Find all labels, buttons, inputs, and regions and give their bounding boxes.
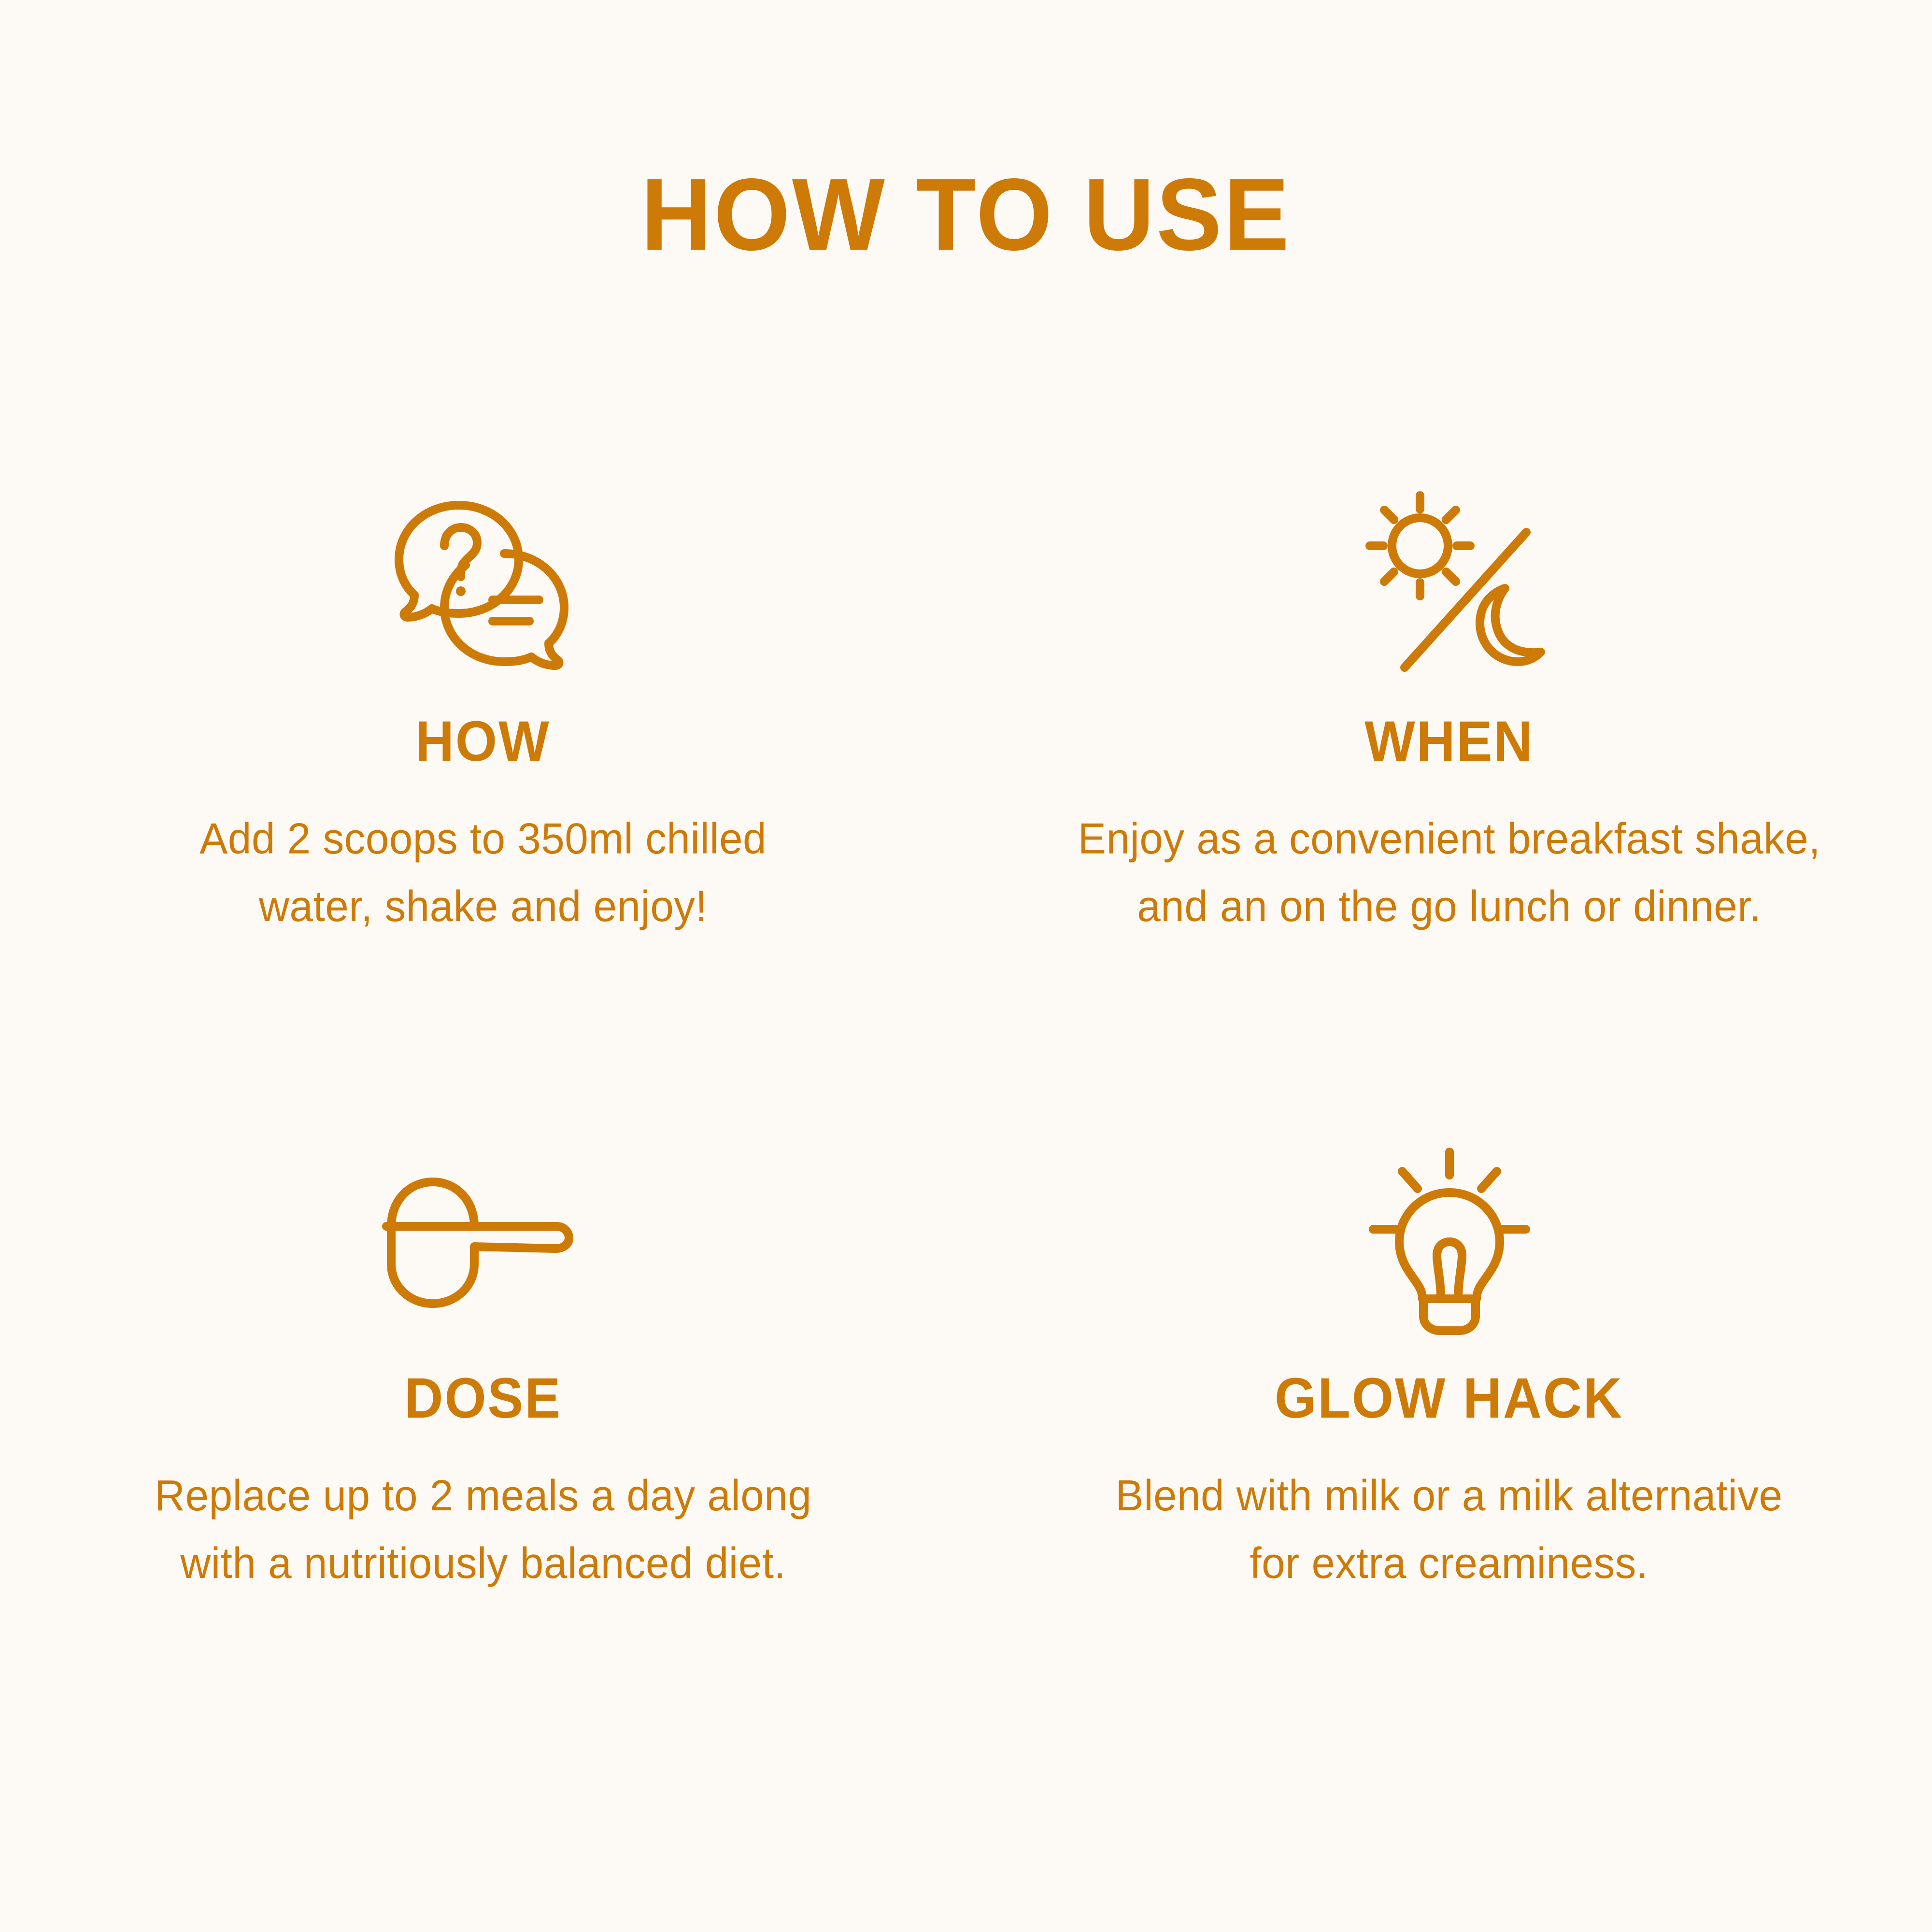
instruction-card-when: WHEN Enjoy as a convenient breakfast sha… — [966, 483, 1932, 1135]
card-heading-dose: DOSE — [404, 1370, 562, 1427]
card-heading-how: HOW — [415, 713, 551, 770]
how-to-use-panel: HOW TO USE HOW Add 2 scoops to — [0, 0, 1932, 1932]
measuring-scoop-icon — [373, 1135, 576, 1343]
page-title: HOW TO USE — [39, 163, 1893, 266]
card-body-when: Enjoy as a convenient breakfast shake, a… — [1078, 806, 1820, 940]
instruction-card-how: HOW Add 2 scoops to 350ml chilled water,… — [0, 483, 966, 1135]
lightbulb-icon — [1360, 1135, 1538, 1343]
card-body-glow-hack: Blend with milk or a milk alternative fo… — [1115, 1463, 1782, 1597]
card-body-dose: Replace up to 2 meals a day along with a… — [155, 1463, 811, 1597]
card-heading-glow-hack: GLOW HACK — [1275, 1370, 1623, 1427]
sun-moon-icon — [1360, 483, 1553, 686]
card-heading-when: WHEN — [1364, 713, 1534, 770]
instruction-card-glow-hack: GLOW HACK Blend with milk or a milk alte… — [966, 1135, 1932, 1787]
instruction-card-dose: DOSE Replace up to 2 meals a day along w… — [0, 1135, 966, 1787]
speech-bubbles-question-icon — [386, 483, 580, 686]
instruction-card-grid: HOW Add 2 scoops to 350ml chilled water,… — [0, 483, 1932, 1787]
card-body-how: Add 2 scoops to 350ml chilled water, sha… — [199, 806, 767, 940]
